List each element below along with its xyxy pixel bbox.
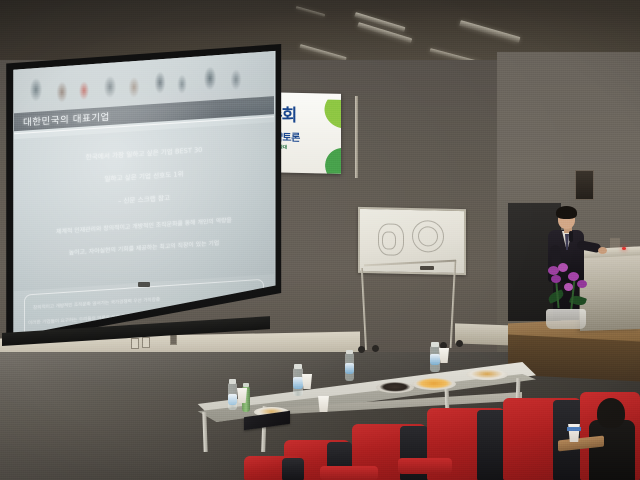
- slide-body-line: 한국에서 가장 일하고 싶은 기업 BEST 30: [14, 139, 274, 166]
- bottle-cap: [229, 379, 236, 384]
- seat-cushion: [398, 458, 452, 474]
- wall-speaker-icon: [575, 170, 594, 200]
- orchid-pot: [546, 309, 586, 329]
- slide-title: 대한민국의 대표기업: [14, 109, 110, 129]
- banner-pole: [355, 96, 358, 178]
- ceiling-light-fixture: [296, 6, 326, 17]
- bottle-cap: [431, 342, 439, 347]
- presenter-right-hand: [598, 247, 607, 254]
- orchid-bloom: [577, 280, 587, 288]
- snack-plate[interactable]: [466, 369, 508, 380]
- seated-attendee-body: [589, 420, 635, 480]
- slide-body-line: – 신문 스크랩 참고: [14, 185, 274, 212]
- seated-attendee-head: [597, 398, 625, 428]
- lectern[interactable]: [580, 251, 640, 331]
- orchid-bloom: [568, 272, 579, 281]
- auditorium-seat[interactable]: [244, 456, 302, 480]
- orchid-bloom: [558, 263, 568, 272]
- seat-trim: [282, 458, 304, 480]
- swoosh-graphic-icon: [293, 99, 341, 174]
- slide-body-line: 높이고, 자아실현의 기회를 제공하는 최고의 직장이 있는 기업: [14, 234, 274, 260]
- whiteboard-caster: [372, 345, 379, 352]
- slide-body-line: 일하고 싶은 기업 선호도 1위: [14, 162, 274, 189]
- orchid-bloom: [564, 283, 573, 291]
- whiteboard-sketch: [382, 231, 396, 249]
- water-bottle-label: [430, 354, 440, 365]
- water-bottle-label: [228, 394, 237, 405]
- seat-cushion: [320, 466, 378, 480]
- snack-plate[interactable]: [376, 382, 414, 393]
- projection-screen: 대한민국의 대표기업 한국에서 가장 일하고 싶은 기업 BEST 30 일하고…: [2, 44, 290, 354]
- bottle-cap: [243, 383, 249, 387]
- ceiling-light-fixture: [459, 20, 520, 43]
- presenter-hair: [556, 206, 577, 219]
- ceiling-light-fixture: [299, 44, 346, 61]
- whiteboard-caster: [440, 342, 447, 349]
- paper-cup-band: [567, 427, 581, 431]
- ceiling-light-fixture: [354, 12, 405, 32]
- orchid-bloom: [551, 275, 561, 283]
- bottle-cap: [346, 350, 353, 354]
- ceiling-light-fixture: [357, 22, 412, 43]
- water-bottle-label: [345, 363, 354, 374]
- microphone-icon[interactable]: [569, 231, 573, 242]
- slide-body-line: 체계적 인재관리와 창의적이고 개방적인 조직문화를 통해 개인의 역량을: [14, 212, 274, 238]
- whiteboard-caster: [456, 340, 463, 347]
- whiteboard-marker-tray: [420, 266, 434, 270]
- whiteboard-sketch: [418, 226, 438, 246]
- status-led-icon: [622, 247, 626, 250]
- screen-center-tab: [138, 282, 150, 287]
- bottle-cap: [294, 364, 302, 369]
- water-bottle-label: [293, 377, 303, 389]
- slide-body: 한국에서 가장 일하고 싶은 기업 BEST 30 일하고 싶은 기업 선호도 …: [14, 122, 274, 291]
- whiteboard-caster: [358, 346, 365, 353]
- conference-room-photo: 수회 전략토론 한영공학대 대한민국의 대표기업 한국에서 가장 일하고 싶은 …: [0, 0, 640, 480]
- snack-plate[interactable]: [412, 378, 456, 390]
